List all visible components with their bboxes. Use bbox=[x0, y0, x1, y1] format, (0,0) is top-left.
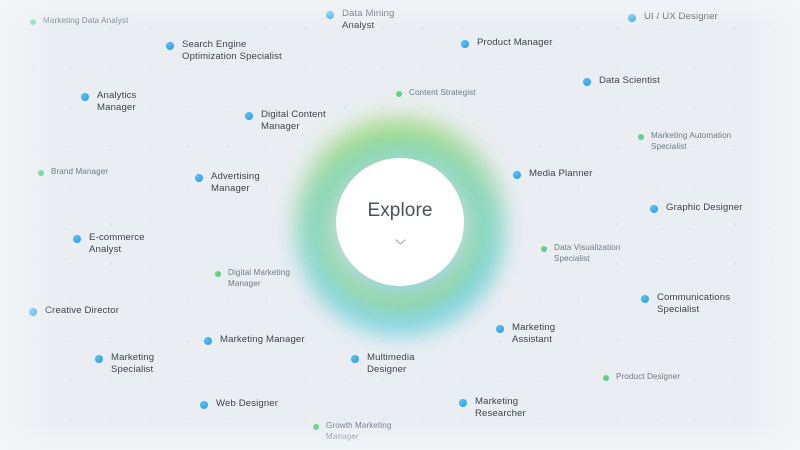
node-label-line: Analytics bbox=[97, 90, 136, 101]
node-label-line: Growth Marketing bbox=[326, 421, 391, 430]
node-label-line: Data Mining bbox=[342, 8, 395, 19]
explore-label: Explore bbox=[367, 201, 432, 220]
graph-node[interactable]: Product Designer bbox=[603, 372, 680, 383]
node-dot-icon bbox=[326, 11, 334, 19]
node-label: MarketingSpecialist bbox=[111, 352, 154, 377]
graph-node[interactable]: Digital MarketingManager bbox=[215, 268, 290, 289]
graph-node[interactable]: AdvertisingManager bbox=[195, 171, 260, 196]
node-label-line: Multimedia bbox=[367, 352, 415, 363]
graph-node[interactable]: Marketing AutomationSpecialist bbox=[638, 131, 731, 152]
node-dot-icon bbox=[650, 205, 658, 213]
graph-node[interactable]: CommunicationsSpecialist bbox=[641, 292, 730, 317]
graph-node[interactable]: Media Planner bbox=[513, 168, 592, 180]
graph-node[interactable]: E-commerceAnalyst bbox=[73, 232, 145, 257]
node-dot-icon bbox=[166, 42, 174, 50]
node-label-line: Search Engine bbox=[182, 39, 247, 50]
node-label-line: Data Visualization bbox=[554, 243, 620, 252]
node-label: Media Planner bbox=[529, 168, 592, 180]
node-dot-icon bbox=[29, 308, 37, 316]
node-dot-icon bbox=[73, 235, 81, 243]
node-label: AnalyticsManager bbox=[97, 90, 136, 115]
node-label-line: Web Designer bbox=[216, 398, 278, 409]
node-label: Product Manager bbox=[477, 37, 552, 49]
graph-node[interactable]: Search EngineOptimization Specialist bbox=[166, 39, 282, 64]
node-label: Marketing Manager bbox=[220, 334, 305, 346]
node-label: Brand Manager bbox=[51, 167, 108, 178]
node-dot-icon bbox=[200, 401, 208, 409]
node-label-line: Assistant bbox=[512, 334, 552, 345]
graph-node[interactable]: Data VisualizationSpecialist bbox=[541, 243, 620, 264]
node-label: CommunicationsSpecialist bbox=[657, 292, 730, 317]
node-label: Graphic Designer bbox=[666, 202, 743, 214]
node-label-line: Manager bbox=[97, 102, 136, 113]
node-dot-icon bbox=[396, 91, 402, 97]
node-label-line: Specialist bbox=[657, 304, 699, 315]
node-dot-icon bbox=[38, 170, 44, 176]
graph-node[interactable]: MarketingSpecialist bbox=[95, 352, 154, 377]
node-label-line: Analyst bbox=[342, 20, 374, 31]
node-label: Growth MarketingManager bbox=[326, 421, 391, 442]
graph-node[interactable]: Creative Director bbox=[29, 305, 119, 317]
node-label-line: Communications bbox=[657, 292, 730, 303]
node-dot-icon bbox=[603, 375, 609, 381]
node-label-line: Manager bbox=[228, 279, 261, 288]
node-label-line: Marketing Manager bbox=[220, 334, 305, 345]
node-dot-icon bbox=[628, 14, 636, 22]
node-dot-icon bbox=[351, 355, 359, 363]
node-label-line: Content Strategist bbox=[409, 88, 476, 97]
node-label-line: Product Designer bbox=[616, 372, 680, 381]
node-label-line: Specialist bbox=[554, 254, 590, 263]
node-label-line: Optimization Specialist bbox=[182, 51, 282, 62]
node-dot-icon bbox=[81, 93, 89, 101]
graph-node[interactable]: Graphic Designer bbox=[650, 202, 743, 214]
node-label: Marketing Data Analyst bbox=[43, 16, 128, 27]
graph-node[interactable]: UI / UX Designer bbox=[628, 11, 718, 23]
node-label-line: Designer bbox=[367, 364, 406, 375]
node-label-line: Marketing Automation bbox=[651, 131, 731, 140]
node-label-line: Manager bbox=[261, 121, 300, 132]
node-label-line: Creative Director bbox=[45, 305, 119, 316]
node-dot-icon bbox=[459, 399, 467, 407]
explore-graph-canvas: Marketing Data AnalystData MiningAnalyst… bbox=[0, 0, 800, 450]
node-label-line: Marketing bbox=[111, 352, 154, 363]
node-label-line: E-commerce bbox=[89, 232, 145, 243]
node-dot-icon bbox=[30, 19, 36, 25]
node-dot-icon bbox=[638, 134, 644, 140]
node-dot-icon bbox=[496, 325, 504, 333]
node-label-line: UI / UX Designer bbox=[644, 11, 718, 22]
node-label-line: Data Scientist bbox=[599, 75, 660, 86]
node-label: Web Designer bbox=[216, 398, 278, 410]
node-label-line: Specialist bbox=[111, 364, 153, 375]
node-dot-icon bbox=[513, 171, 521, 179]
node-dot-icon bbox=[195, 174, 203, 182]
node-label-line: Specialist bbox=[651, 142, 687, 151]
graph-node[interactable]: AnalyticsManager bbox=[81, 90, 136, 115]
node-dot-icon bbox=[641, 295, 649, 303]
node-label: AdvertisingManager bbox=[211, 171, 260, 196]
node-label: Search EngineOptimization Specialist bbox=[182, 39, 282, 64]
chevron-down-icon[interactable] bbox=[395, 239, 406, 245]
node-label-line: Product Manager bbox=[477, 37, 552, 48]
node-label-line: Digital Content bbox=[261, 109, 326, 120]
node-label-line: Marketing bbox=[512, 322, 555, 333]
node-label-line: Advertising bbox=[211, 171, 260, 182]
node-label-line: Manager bbox=[211, 183, 250, 194]
node-label: MultimediaDesigner bbox=[367, 352, 415, 377]
explore-button[interactable]: Explore bbox=[336, 158, 464, 286]
graph-node[interactable]: Brand Manager bbox=[38, 167, 108, 178]
node-label: Content Strategist bbox=[409, 88, 476, 99]
node-dot-icon bbox=[204, 337, 212, 345]
node-label-line: Manager bbox=[326, 432, 359, 441]
graph-node[interactable]: Growth MarketingManager bbox=[313, 421, 391, 442]
node-dot-icon bbox=[583, 78, 591, 86]
node-label-line: Marketing bbox=[475, 396, 518, 407]
node-label-line: Brand Manager bbox=[51, 167, 108, 176]
node-label-line: Marketing Data Analyst bbox=[43, 16, 128, 25]
node-label: E-commerceAnalyst bbox=[89, 232, 145, 257]
graph-node[interactable]: Digital ContentManager bbox=[245, 109, 326, 134]
graph-node[interactable]: Marketing Data Analyst bbox=[30, 16, 128, 27]
graph-node[interactable]: MarketingAssistant bbox=[496, 322, 555, 347]
graph-node[interactable]: Marketing Manager bbox=[204, 334, 305, 346]
node-dot-icon bbox=[95, 355, 103, 363]
node-label: Marketing AutomationSpecialist bbox=[651, 131, 731, 152]
node-label: Data VisualizationSpecialist bbox=[554, 243, 620, 264]
graph-node[interactable]: Web Designer bbox=[200, 398, 278, 410]
graph-node[interactable]: Product Manager bbox=[461, 37, 552, 49]
node-label: MarketingAssistant bbox=[512, 322, 555, 347]
node-label: Product Designer bbox=[616, 372, 680, 383]
node-label: Digital ContentManager bbox=[261, 109, 326, 134]
node-label-line: Digital Marketing bbox=[228, 268, 290, 277]
graph-node[interactable]: Content Strategist bbox=[396, 88, 476, 99]
graph-node[interactable]: MultimediaDesigner bbox=[351, 352, 415, 377]
node-dot-icon bbox=[245, 112, 253, 120]
node-label-line: Analyst bbox=[89, 244, 121, 255]
node-label: Creative Director bbox=[45, 305, 119, 317]
node-dot-icon bbox=[541, 246, 547, 252]
node-dot-icon bbox=[215, 271, 221, 277]
node-dot-icon bbox=[313, 424, 319, 430]
node-label: UI / UX Designer bbox=[644, 11, 718, 23]
node-label: MarketingResearcher bbox=[475, 396, 526, 421]
graph-node[interactable]: Data Scientist bbox=[583, 75, 660, 87]
node-label: Digital MarketingManager bbox=[228, 268, 290, 289]
node-label-line: Researcher bbox=[475, 408, 526, 419]
node-label-line: Media Planner bbox=[529, 168, 592, 179]
node-dot-icon bbox=[461, 40, 469, 48]
graph-node[interactable]: MarketingResearcher bbox=[459, 396, 526, 421]
node-label: Data MiningAnalyst bbox=[342, 8, 395, 33]
node-label: Data Scientist bbox=[599, 75, 660, 87]
node-label-line: Graphic Designer bbox=[666, 202, 743, 213]
graph-node[interactable]: Data MiningAnalyst bbox=[326, 8, 395, 33]
